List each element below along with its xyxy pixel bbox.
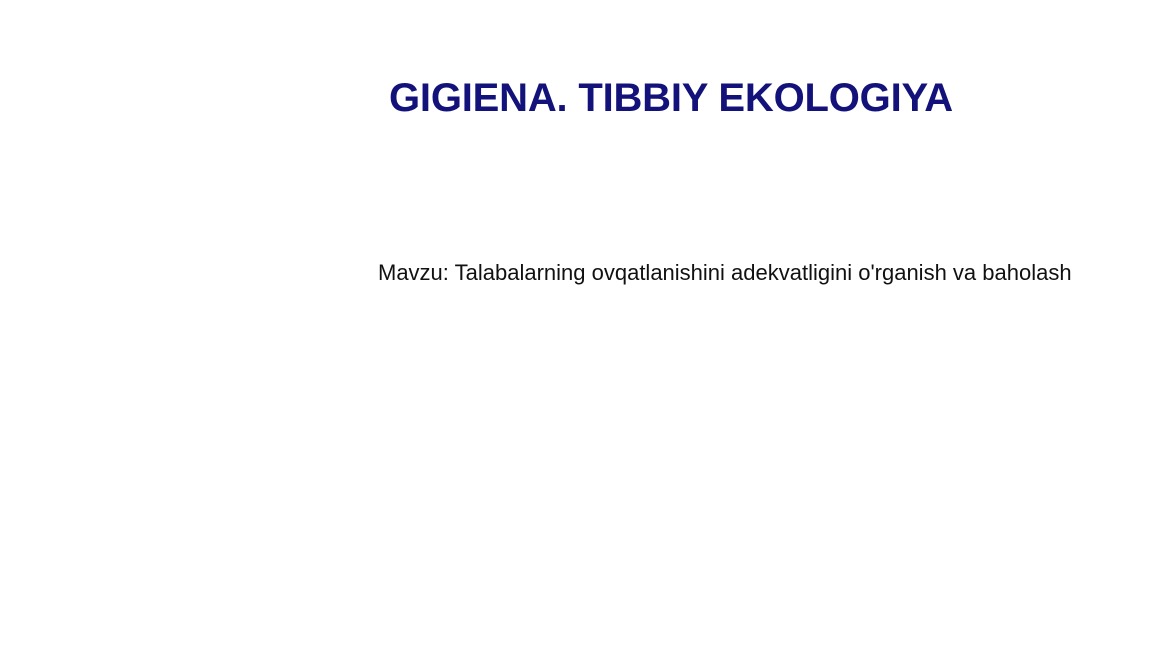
slide-subtitle-text: Mavzu: Talabalarning ovqatlanishini adek…: [378, 256, 1078, 290]
slide-title: GIGIENA. TIBBIY EKOLOGIYA: [389, 74, 1089, 122]
presentation-slide: GIGIENA. TIBBIY EKOLOGIYA Mavzu: Talabal…: [0, 0, 1152, 648]
